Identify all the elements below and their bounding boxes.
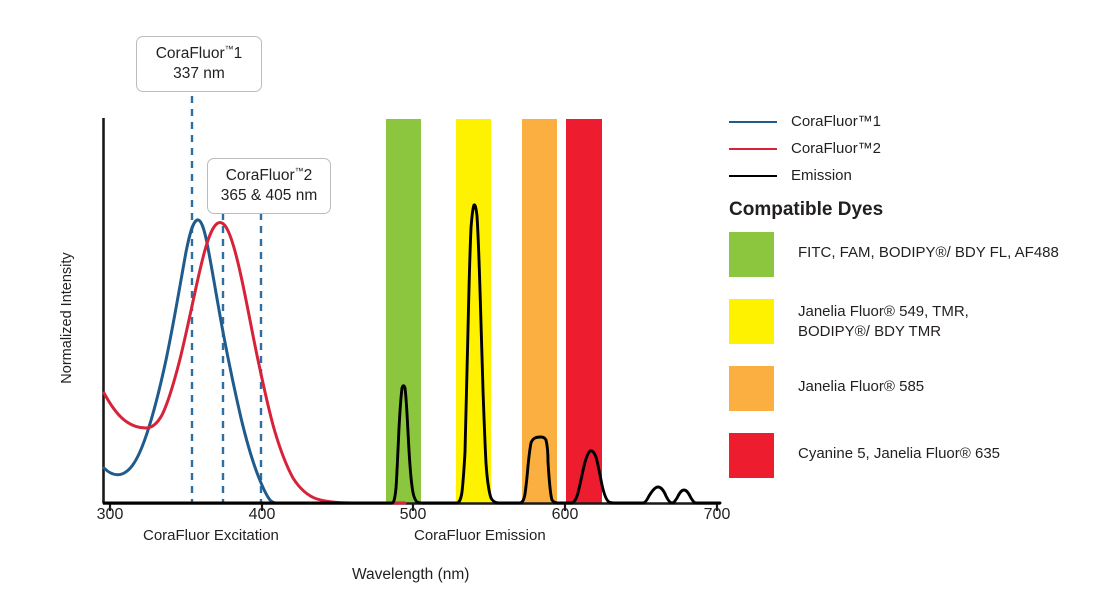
dye-label-green: FITC, FAM, BODIPY®/ BDY FL, AF488 xyxy=(798,232,1059,263)
callout-1-detail: 337 nm xyxy=(149,64,249,83)
dye-item-red: Cyanine 5, Janelia Fluor® 635 xyxy=(729,433,1099,478)
legend-label-emission: Emission xyxy=(791,167,852,184)
compatible-dyes-list: FITC, FAM, BODIPY®/ BDY FL, AF488 Janeli… xyxy=(729,232,1099,500)
series-legend: CoraFluor™1 CoraFluor™2 Emission xyxy=(729,108,1089,189)
xtick-label-600: 600 xyxy=(543,506,587,524)
xtick-label-300: 300 xyxy=(88,506,132,524)
dye-label-orange: Janelia Fluor® 585 xyxy=(798,366,924,397)
legend-label-corafluor-2: CoraFluor™2 xyxy=(791,140,881,157)
legend-line-corafluor-2 xyxy=(729,148,777,150)
trademark-icon: ™ xyxy=(225,44,234,54)
callout-corafluor-1: CoraFluor™1 337 nm xyxy=(136,36,262,92)
emission-bands xyxy=(386,119,602,503)
callout-2-title: CoraFluor™2 xyxy=(226,167,313,184)
x-axis-title: Wavelength (nm) xyxy=(352,566,469,584)
swatch-orange xyxy=(729,366,774,411)
legend-line-corafluor-1 xyxy=(729,121,777,123)
swatch-yellow xyxy=(729,299,774,344)
legend-label-corafluor-1: CoraFluor™1 xyxy=(791,113,881,130)
dye-item-yellow: Janelia Fluor® 549, TMR, BODIPY®/ BDY TM… xyxy=(729,299,1099,344)
callout-1-title: CoraFluor™1 xyxy=(156,45,243,62)
dye-item-orange: Janelia Fluor® 585 xyxy=(729,366,1099,411)
callout-corafluor-2: CoraFluor™2 365 & 405 nm xyxy=(207,158,331,214)
swatch-green xyxy=(729,232,774,277)
legend-line-emission xyxy=(729,175,777,177)
xtick-label-400: 400 xyxy=(240,506,284,524)
xtick-label-700: 700 xyxy=(695,506,739,524)
emission-region-label: CoraFluor Emission xyxy=(414,527,546,544)
excitation-region-label: CoraFluor Excitation xyxy=(143,527,279,544)
legend-item-corafluor-1: CoraFluor™1 xyxy=(729,108,1089,135)
dye-item-green: FITC, FAM, BODIPY®/ BDY FL, AF488 xyxy=(729,232,1099,277)
callout-2-detail: 365 & 405 nm xyxy=(220,186,318,205)
trademark-icon: ™ xyxy=(295,166,304,176)
compatible-dyes-title: Compatible Dyes xyxy=(729,199,883,221)
band-green xyxy=(386,119,421,503)
legend-item-emission: Emission xyxy=(729,162,1089,189)
curve-corafluor-1 xyxy=(104,220,276,503)
dye-label-yellow: Janelia Fluor® 549, TMR, BODIPY®/ BDY TM… xyxy=(798,299,969,343)
legend-item-corafluor-2: CoraFluor™2 xyxy=(729,135,1089,162)
swatch-red xyxy=(729,433,774,478)
xtick-label-500: 500 xyxy=(391,506,435,524)
curve-corafluor-2 xyxy=(104,223,405,504)
y-axis-title: Normalized Intensity xyxy=(59,238,75,398)
band-orange xyxy=(522,119,557,503)
band-red xyxy=(566,119,602,503)
dye-label-red: Cyanine 5, Janelia Fluor® 635 xyxy=(798,433,1000,464)
